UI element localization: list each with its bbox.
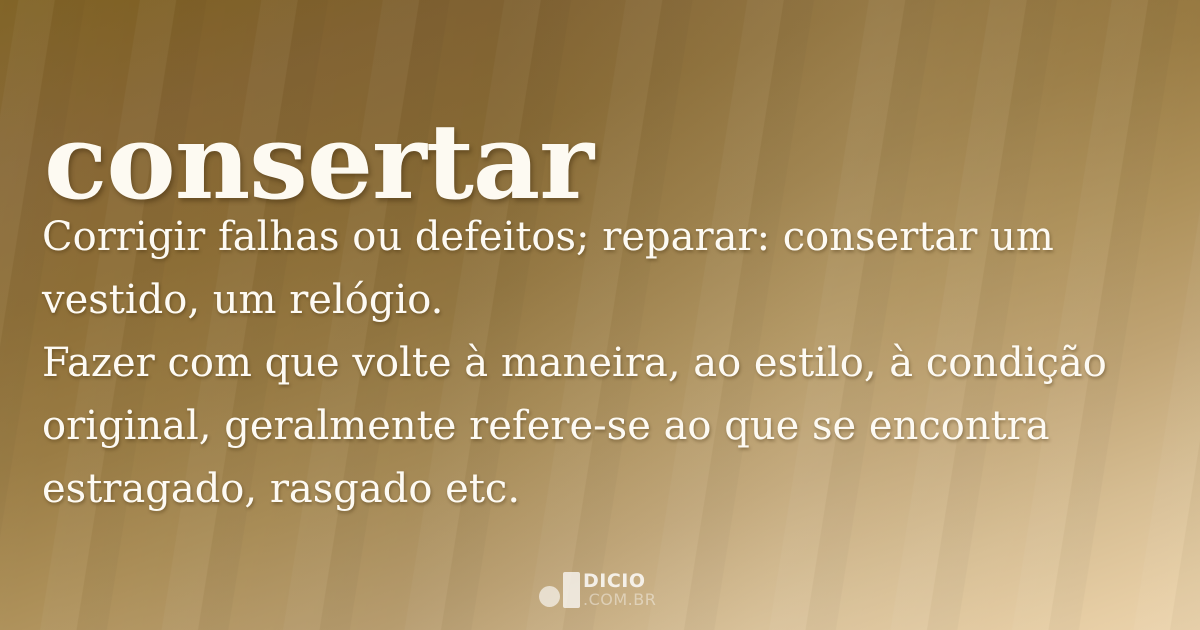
- definition-list: Corrigir falhas ou defeitos; reparar: co…: [42, 206, 1162, 521]
- definition-item: Fazer com que volte à maneira, ao estilo…: [42, 332, 1162, 521]
- logo-brand-name: DICIO: [583, 572, 656, 591]
- bar-icon: [563, 572, 580, 608]
- logo-mark: [537, 568, 579, 608]
- logo-wordmark: DICIO .COM.BR: [583, 568, 656, 608]
- logo-domain-suffix: .COM.BR: [583, 591, 656, 608]
- dicio-logo[interactable]: DICIO .COM.BR: [537, 568, 667, 612]
- definition-item: Corrigir falhas ou defeitos; reparar: co…: [42, 206, 1162, 332]
- circle-icon: [539, 586, 560, 607]
- headword-title: consertar: [44, 106, 593, 218]
- card-content: consertar Corrigir falhas ou defeitos; r…: [0, 0, 1200, 630]
- dictionary-definition-card: consertar Corrigir falhas ou defeitos; r…: [0, 0, 1200, 630]
